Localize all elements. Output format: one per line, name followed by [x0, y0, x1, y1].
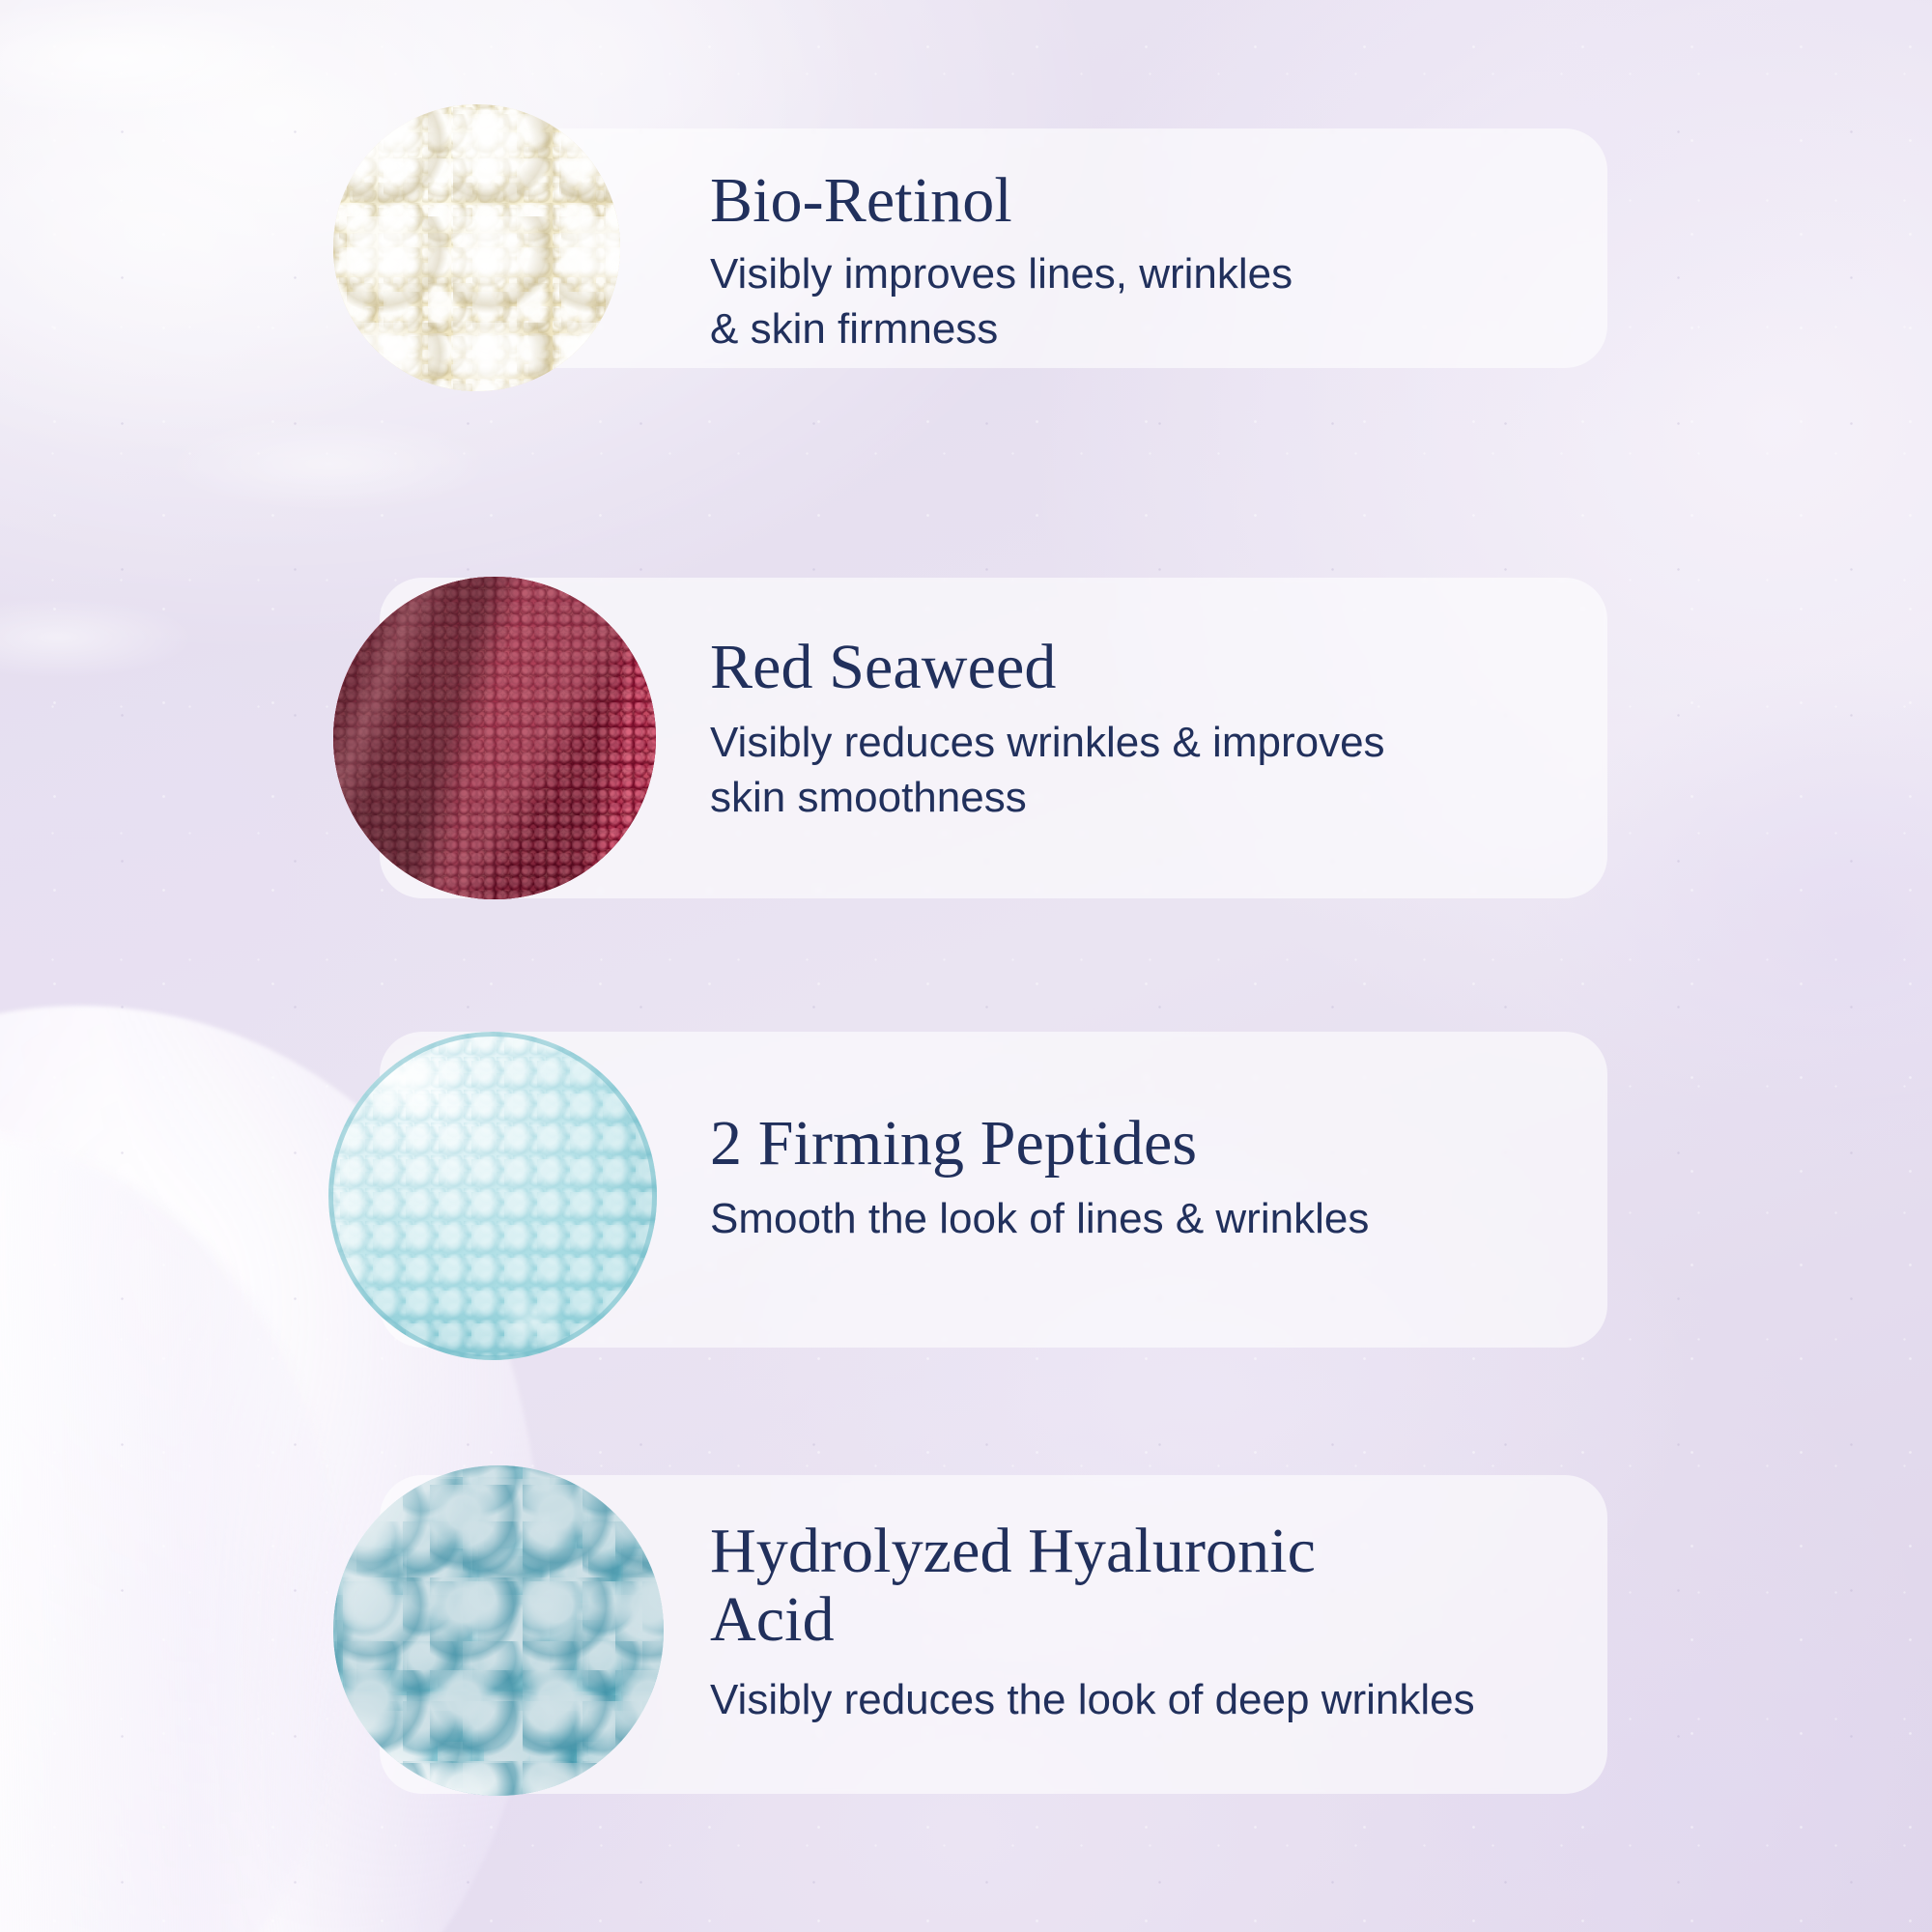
seaweed-folds	[333, 577, 656, 899]
ingredient-title: Bio-Retinol	[710, 166, 1560, 235]
ingredient-description: Visibly improves lines, wrinkles & skin …	[710, 246, 1560, 356]
ingredient-title: Red Seaweed	[710, 633, 1589, 701]
hyaluronic-sheen	[333, 1465, 664, 1796]
aqua-gel-droplet-swatch	[328, 1032, 657, 1360]
ingredient-text-red-seaweed: Red Seaweed Visibly reduces wrinkles & i…	[710, 633, 1589, 826]
ingredient-description: Visibly reduces wrinkles & improves skin…	[710, 715, 1589, 825]
ingredient-title: 2 Firming Peptides	[710, 1109, 1579, 1178]
ingredient-benefits-infographic: Bio-Retinol Visibly improves lines, wrin…	[0, 0, 1932, 1932]
ingredient-text-firming-peptides: 2 Firming Peptides Smooth the look of li…	[710, 1109, 1579, 1246]
ingredient-description: Visibly reduces the look of deep wrinkle…	[710, 1672, 1560, 1727]
clear-hyaluronic-bubbles-swatch	[333, 1465, 664, 1796]
yellow-oil-bubbles-swatch	[333, 104, 620, 391]
ingredient-card-list: Bio-Retinol Visibly improves lines, wrin…	[0, 0, 1932, 1932]
ingredient-description: Smooth the look of lines & wrinkles	[710, 1191, 1579, 1246]
red-seaweed-texture-swatch	[333, 577, 656, 899]
aqua-droplet-rim	[328, 1032, 657, 1360]
ingredient-text-bio-retinol: Bio-Retinol Visibly improves lines, wrin…	[710, 166, 1560, 357]
ingredient-title: Hydrolyzed Hyaluronic Acid	[710, 1517, 1560, 1655]
oil-bubbles-large	[333, 104, 620, 391]
ingredient-text-hydrolyzed-hyaluronic-acid: Hydrolyzed Hyaluronic Acid Visibly reduc…	[710, 1517, 1560, 1727]
